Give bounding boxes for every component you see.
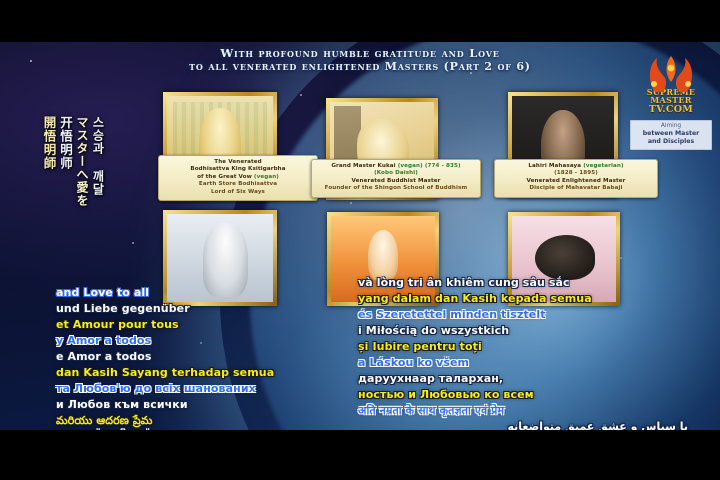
subtitle-left-line-7: и Любов към всички xyxy=(56,397,356,413)
plaque-line: Founder of the Shingon School of Buddhis… xyxy=(315,185,477,192)
subtitle-left-line-6: та Любов'ю до всіх шанованих xyxy=(56,381,356,397)
plaque-line: Venerated Enlightened Master xyxy=(498,178,654,185)
subtitle-right-line-9: با سپاس و عشق عمیق متواضعانه xyxy=(358,419,688,430)
subtitle-right-line-2: és Szeretettel minden tisztelt xyxy=(358,307,688,323)
subtitle-right-line-6: даруухнаар талархан, xyxy=(358,371,688,387)
star xyxy=(132,242,134,244)
plaque-line: Lahiri Mahasaya (vegetarian) xyxy=(498,163,654,170)
subtitle-right-line-3: i Miłością do wszystkich xyxy=(358,323,688,339)
subtitle-right-line-0: và lòng tri ân khiêm cung sâu sắc xyxy=(358,275,688,291)
letterbox-top xyxy=(0,0,720,42)
subtitle-right-line-7: ностью и Любовью ко всем xyxy=(358,387,688,403)
vertical-title-japanese: マスターへ愛を xyxy=(75,116,88,207)
headline-line-1: With profound humble gratitude and Love xyxy=(0,46,720,60)
plaque-line: Earth Store Bodhisattva xyxy=(162,181,314,188)
plaque-line: (1828 - 1895) xyxy=(498,170,654,177)
plaque-lahiri: Lahiri Mahasaya (vegetarian) (1828 - 189… xyxy=(494,159,658,198)
subtitle-right-line-1: yang dalam dan Kasih kepada semua xyxy=(358,291,688,307)
subtitle-left-line-5: dan Kasih Sayang terhadap semua xyxy=(56,365,356,381)
badge-line-2: between Master xyxy=(632,130,710,138)
subtitle-right-line-5: a Láskou ko všem xyxy=(358,355,688,371)
supreme-master-flame-icon xyxy=(628,54,714,94)
plaque-line: (Kobo Daishi) xyxy=(315,170,477,177)
vertical-title-korean: 스승과 깨달 xyxy=(91,116,104,207)
plaque-ksitigarbha: The Venerated Bodhisattva King Ksitigarb… xyxy=(158,155,318,201)
subtitle-left-line-4: e Amor a todos xyxy=(56,349,356,365)
star xyxy=(350,202,352,204)
subtitle-right-line-8: अति नम्रता के साथ कृतज्ञता एवं प्रेम xyxy=(358,403,688,419)
subtitle-left-line-8: మరియు ఆదరణ ప్రేమ xyxy=(56,413,356,429)
page-title: With profound humble gratitude and Love … xyxy=(0,46,720,73)
video-player-stage: With profound humble gratitude and Love … xyxy=(0,0,720,480)
program-badge: Aiming between Master and Disciples xyxy=(630,120,712,150)
plaque-line: Venerated Buddhist Master xyxy=(315,178,477,185)
badge-line-3: and Disciples xyxy=(632,138,710,146)
channel-logo: SUPREME MASTER TV.COM Aiming between Mas… xyxy=(628,54,714,150)
star xyxy=(620,257,622,259)
plaque-kukai: Grand Master Kukai (vegan) (774 - 835) (… xyxy=(311,159,481,198)
video-frame: With profound humble gratitude and Love … xyxy=(0,42,720,430)
plaque-line: Disciple of Mahavatar Babaji xyxy=(498,185,654,192)
plaque-line: Bodhisattva King Ksitigarbha xyxy=(162,166,314,173)
plaque-line: The Venerated xyxy=(162,159,314,166)
plaque-line: Grand Master Kukai (vegan) (774 - 835) xyxy=(315,163,477,170)
badge-line-1: Aiming xyxy=(632,123,710,130)
logo-word-bottom: TV.COM xyxy=(628,105,714,115)
subtitle-column-left: and Love to allund Liebe gegenüberet Amo… xyxy=(56,285,356,430)
subtitle-right-line-4: și Iubire pentru toți xyxy=(358,339,688,355)
subtitle-left-line-1: und Liebe gegenüber xyxy=(56,301,356,317)
vertical-title-group: 스승과 깨달 マスターへ愛を 开悟明师 開悟明師 xyxy=(42,116,104,207)
vertical-title-chinese-simplified: 开悟明师 xyxy=(59,116,73,207)
letterbox-bottom xyxy=(0,430,720,480)
plaque-line: of the Great Vow (vegan) xyxy=(162,174,314,181)
headline-line-2: to all venerated enlightened Masters (Pa… xyxy=(0,60,720,73)
subtitle-left-line-0: and Love to all xyxy=(56,285,356,301)
subtitle-left-line-2: et Amour pour tous xyxy=(56,317,356,333)
star xyxy=(300,94,302,96)
subtitle-left-line-3: y Amor a todos xyxy=(56,333,356,349)
subtitle-column-right: và lòng tri ân khiêm cung sâu sắcyang da… xyxy=(358,275,688,430)
plaque-line: Lord of Six Ways xyxy=(162,189,314,196)
vertical-title-chinese-traditional: 開悟明師 xyxy=(42,116,56,207)
